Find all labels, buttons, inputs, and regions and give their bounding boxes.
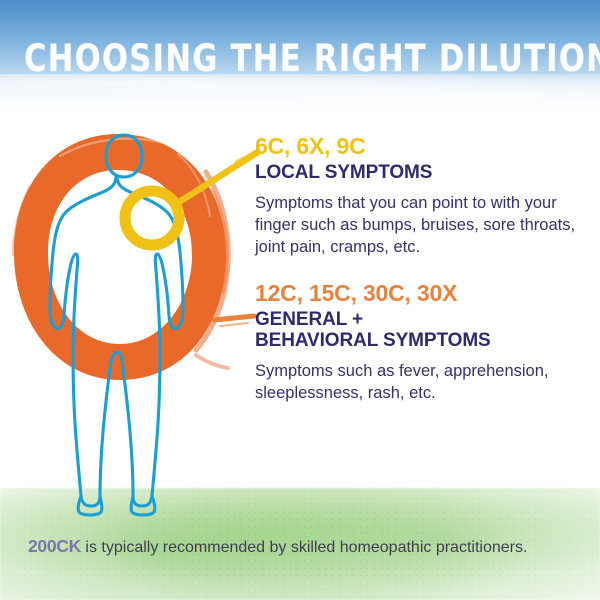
dilution-block-local: 6C, 6X, 9C LOCAL SYMPTOMS Symptoms that … xyxy=(255,134,590,259)
body-illustration xyxy=(0,112,260,532)
dilution-blocks: 6C, 6X, 9C LOCAL SYMPTOMS Symptoms that … xyxy=(255,134,590,405)
subhead-general-line2: BEHAVIORAL SYMPTOMS xyxy=(255,330,491,351)
footer-text: is typically recommended by skilled home… xyxy=(81,539,527,556)
body-local: Symptoms that you can point to with your… xyxy=(255,193,577,259)
subhead-general-line1: GENERAL + xyxy=(255,309,363,330)
footer-highlight: 200CK xyxy=(28,536,81,556)
potency-general: 12C, 15C, 30C, 30X xyxy=(255,281,590,305)
orange-brush-ring xyxy=(14,134,228,380)
infographic-root: CHOOSING THE RIGHT DILUTION xyxy=(0,0,600,600)
page-title: CHOOSING THE RIGHT DILUTION xyxy=(24,40,576,77)
subhead-general: GENERAL + BEHAVIORAL SYMPTOMS xyxy=(255,309,590,352)
body-general: Symptoms such as fever, apprehension, sl… xyxy=(255,361,577,405)
leader-dash-general xyxy=(214,316,254,326)
subhead-local: LOCAL SYMPTOMS xyxy=(255,162,590,184)
footer-note: 200CK is typically recommended by skille… xyxy=(28,536,588,557)
dilution-block-general: 12C, 15C, 30C, 30X GENERAL + BEHAVIORAL … xyxy=(255,281,590,405)
potency-local: 6C, 6X, 9C xyxy=(255,134,590,158)
